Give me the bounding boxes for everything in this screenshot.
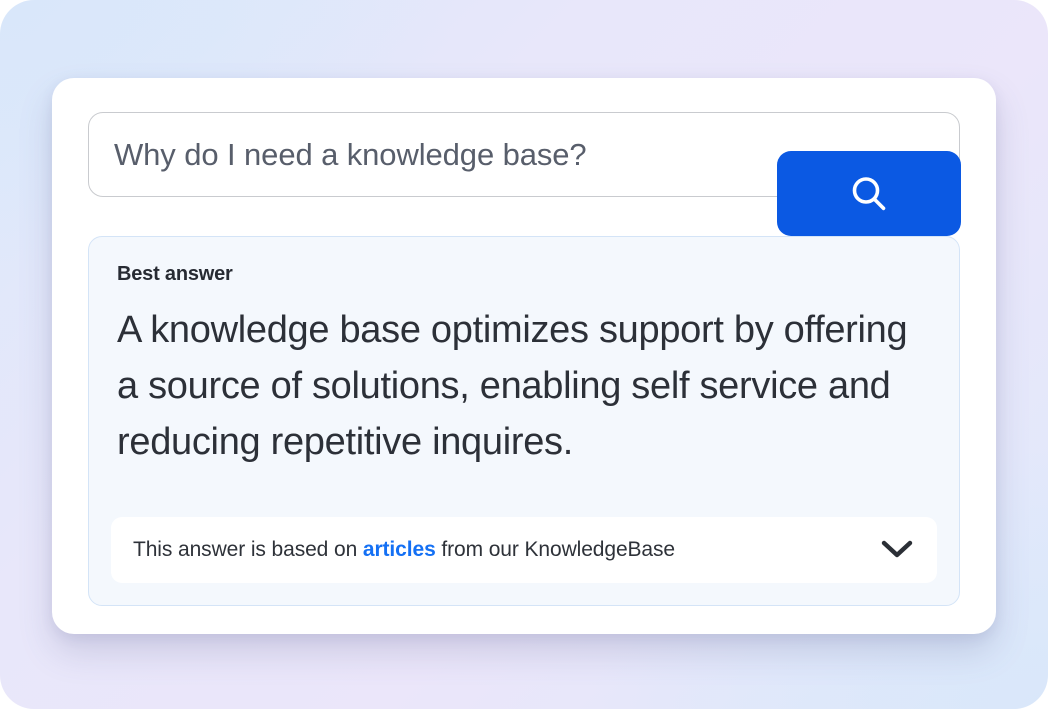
answer-body-text: A knowledge base optimizes support by of… (117, 302, 931, 470)
page-backdrop: Best answer A knowledge base optimizes s… (0, 0, 1048, 709)
answer-source-text: This answer is based on articles from ou… (133, 538, 675, 562)
best-answer-label: Best answer (117, 263, 931, 286)
search-icon (846, 171, 892, 217)
best-answer-panel: Best answer A knowledge base optimizes s… (88, 236, 960, 606)
source-suffix: from our KnowledgeBase (436, 538, 675, 561)
search-button[interactable] (777, 151, 961, 236)
chevron-down-icon (881, 539, 913, 562)
search-input[interactable] (114, 113, 804, 196)
search-row (88, 112, 960, 200)
source-prefix: This answer is based on (133, 538, 363, 561)
knowledge-base-search-card: Best answer A knowledge base optimizes s… (52, 78, 996, 634)
articles-link[interactable]: articles (363, 538, 436, 561)
expand-sources-button[interactable] (881, 539, 913, 562)
answer-source-bar[interactable]: This answer is based on articles from ou… (111, 517, 937, 583)
